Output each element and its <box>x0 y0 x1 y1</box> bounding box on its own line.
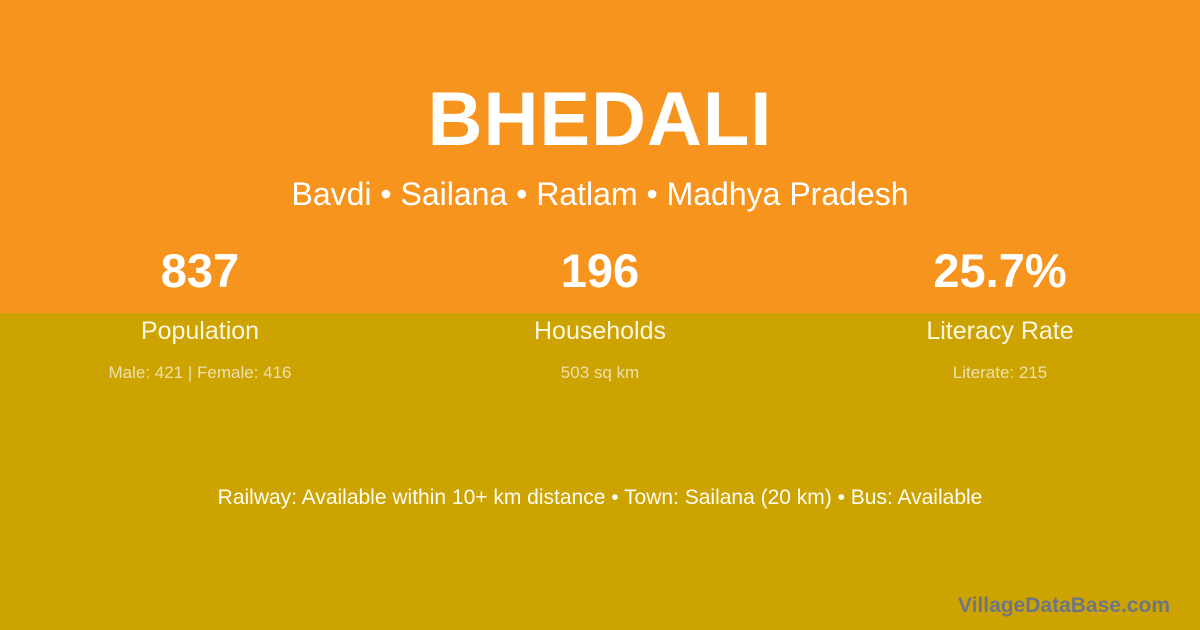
stat-sublabel: 503 sq km <box>400 344 800 381</box>
stat-label: Literacy Rate <box>800 305 1200 344</box>
stat-literacy-rate: 25.7% Literacy Rate Literate: 215 <box>800 247 1200 381</box>
stat-label: Households <box>400 305 800 344</box>
stat-population: 837 Population Male: 421 | Female: 416 <box>0 247 400 381</box>
village-info-card: BHEDALI Bavdi • Sailana • Ratlam • Madhy… <box>0 0 1200 630</box>
header: BHEDALI Bavdi • Sailana • Ratlam • Madhy… <box>0 0 1200 210</box>
stat-sublabel: Male: 421 | Female: 416 <box>0 344 400 381</box>
stats-row: 837 Population Male: 421 | Female: 416 1… <box>0 247 1200 381</box>
stat-value: 837 <box>0 247 400 305</box>
breadcrumb: Bavdi • Sailana • Ratlam • Madhya Prades… <box>0 158 1200 210</box>
site-brand: VillageDataBase.com <box>958 595 1170 616</box>
stat-sublabel: Literate: 215 <box>800 344 1200 381</box>
amenities-summary: Railway: Available within 10+ km distanc… <box>0 487 1200 508</box>
stat-label: Population <box>0 305 400 344</box>
stat-value: 196 <box>400 247 800 305</box>
page-title: BHEDALI <box>0 0 1200 158</box>
stat-households: 196 Households 503 sq km <box>400 247 800 381</box>
stat-value: 25.7% <box>800 247 1200 305</box>
